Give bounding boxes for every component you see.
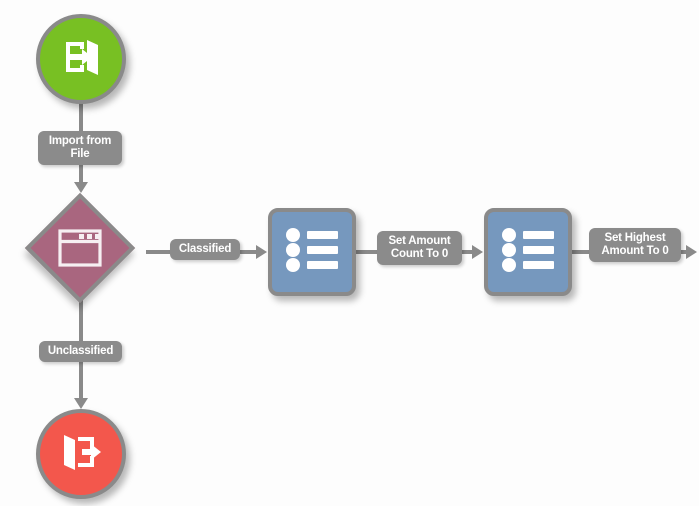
import-door-arrow-in-icon bbox=[58, 34, 104, 85]
node-process-list-2[interactable] bbox=[484, 208, 572, 296]
node-decision-classify[interactable] bbox=[25, 193, 135, 303]
edge-label-set-highest-amount[interactable]: Set Highest Amount To 0 bbox=[589, 228, 681, 262]
edge-label-unclassified[interactable]: Unclassified bbox=[39, 341, 122, 362]
flowchart-canvas: Import from File Classified Unclassified bbox=[0, 0, 699, 506]
node-end-export[interactable] bbox=[36, 409, 126, 499]
node-process-list-1[interactable] bbox=[268, 208, 356, 296]
arrowhead-into-process-2 bbox=[472, 245, 483, 259]
export-door-arrow-out-icon bbox=[58, 429, 104, 480]
edge-label-set-amount-count[interactable]: Set Amount Count To 0 bbox=[377, 231, 462, 265]
window-browser-icon bbox=[57, 228, 103, 268]
arrowhead-offscreen-right bbox=[686, 245, 697, 259]
bulleted-list-icon bbox=[500, 226, 556, 279]
edge-label-classified[interactable]: Classified bbox=[170, 239, 240, 260]
bulleted-list-icon bbox=[284, 226, 340, 279]
edge-label-import-from-file[interactable]: Import from File bbox=[38, 131, 122, 165]
arrowhead-into-decision bbox=[74, 182, 88, 193]
arrowhead-into-end bbox=[74, 398, 88, 409]
node-start-import[interactable] bbox=[36, 14, 126, 104]
arrowhead-into-process-1 bbox=[256, 245, 267, 259]
